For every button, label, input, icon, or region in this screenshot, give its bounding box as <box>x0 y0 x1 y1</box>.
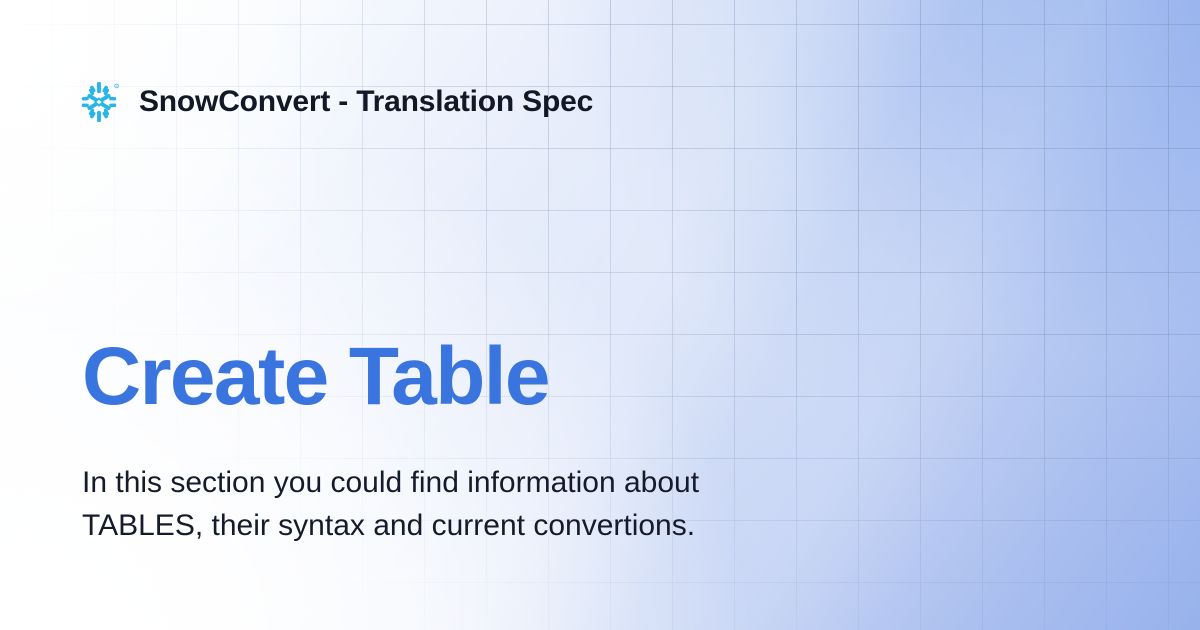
svg-text:R: R <box>116 84 118 88</box>
brand-header: R SnowConvert - Translation Spec <box>78 81 593 123</box>
subtitle-line-2: TABLES, their syntax and current convert… <box>82 505 699 548</box>
hero-block: Create Table In this section you could f… <box>82 336 699 547</box>
page-subtitle: In this section you could find informati… <box>82 462 699 547</box>
brand-title: SnowConvert - Translation Spec <box>139 87 593 117</box>
page-title: Create Table <box>82 336 699 418</box>
translation-spec-banner: R SnowConvert - Translation Spec Create … <box>0 0 1200 630</box>
subtitle-line-1: In this section you could find informati… <box>82 462 699 505</box>
banner-content: R SnowConvert - Translation Spec Create … <box>0 0 1200 630</box>
snowflake-icon: R <box>78 81 120 123</box>
